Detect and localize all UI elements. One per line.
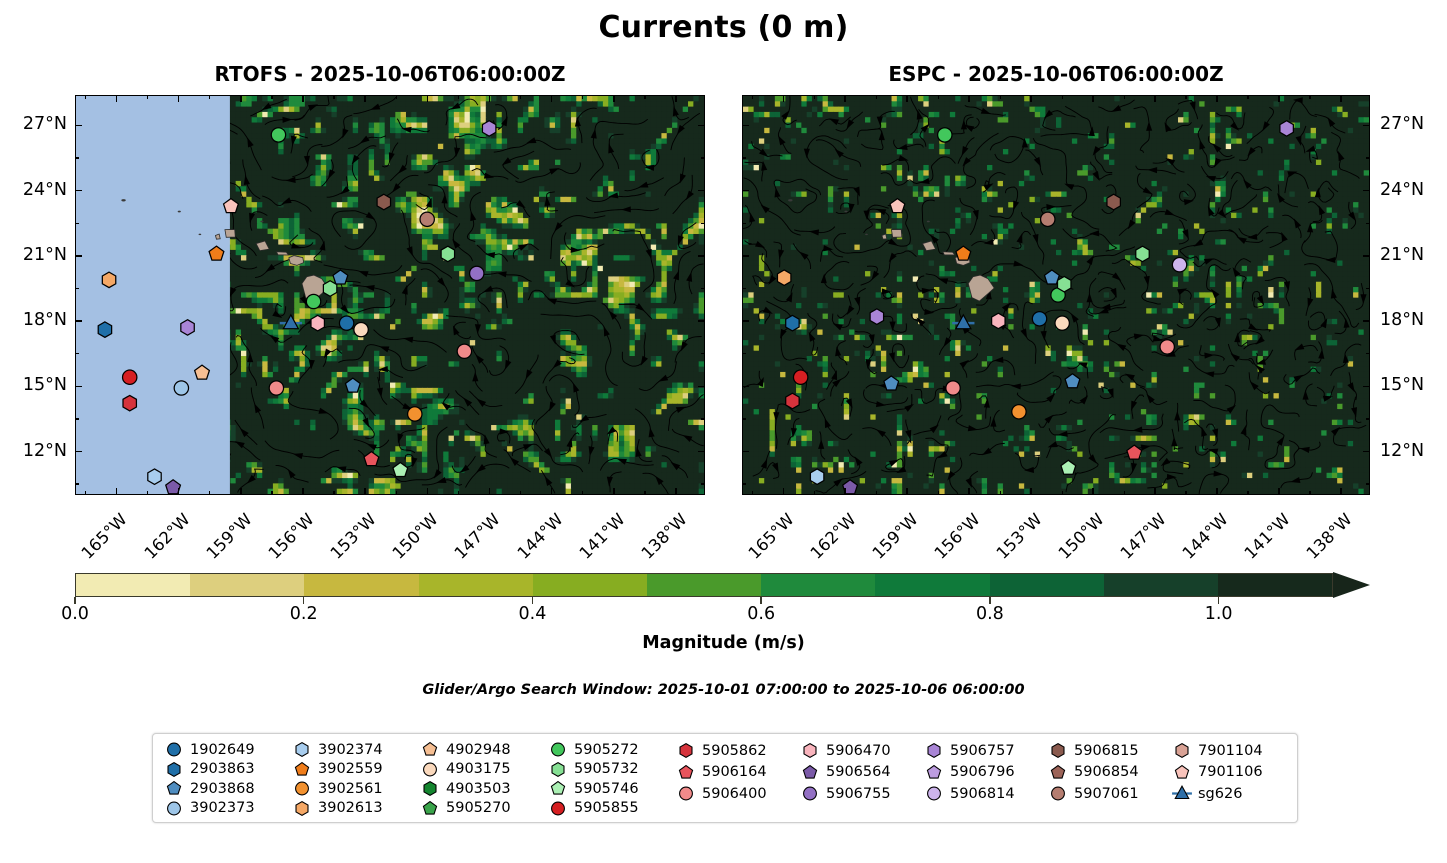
colorbar-band xyxy=(761,574,875,596)
lon-tick-major xyxy=(906,488,908,495)
legend-label: 5905862 xyxy=(699,743,767,759)
lon-tick-major xyxy=(675,488,677,495)
map-marker[interactable] xyxy=(148,469,161,484)
map-marker[interactable] xyxy=(181,320,194,335)
colorbar-bands xyxy=(75,573,1333,597)
lon-tick-major xyxy=(364,488,366,495)
lat-tick-major xyxy=(75,451,82,453)
legend-label: 5905855 xyxy=(571,800,639,816)
lon-tick-major xyxy=(783,488,785,495)
lon-tick-minor xyxy=(582,491,583,495)
lat-tick-minor xyxy=(701,418,705,419)
lon-tick-major xyxy=(968,95,970,102)
lat-label-left: 18°N xyxy=(0,310,67,330)
lon-tick-major xyxy=(1340,488,1342,495)
lat-tick-major xyxy=(1363,451,1370,453)
lon-tick-minor xyxy=(938,491,939,495)
lon-tick-major xyxy=(844,95,846,102)
lon-tick-minor xyxy=(271,95,272,99)
legend-column: 590586259061645906400 xyxy=(673,740,797,818)
lon-tick-minor xyxy=(458,491,459,495)
legend-marker-pentagon-icon xyxy=(417,740,443,759)
map-marker[interactable] xyxy=(786,393,799,408)
lat-tick-major xyxy=(75,125,82,127)
lon-tick-minor xyxy=(1247,491,1248,495)
legend-marker-hexagon-icon xyxy=(289,740,315,759)
lon-tick-minor xyxy=(458,95,459,99)
map-marker[interactable] xyxy=(354,322,368,336)
panel-title-espc: ESPC - 2025-10-06T06:00:00Z xyxy=(742,62,1370,86)
map-marker[interactable] xyxy=(470,266,484,280)
lon-tick-minor xyxy=(1309,95,1310,99)
map-marker[interactable] xyxy=(271,128,285,142)
map-marker[interactable] xyxy=(1041,212,1055,226)
lat-tick-major xyxy=(698,320,705,322)
colorbar-tick xyxy=(760,597,761,604)
lat-tick-major xyxy=(742,255,749,257)
lat-tick-major xyxy=(742,386,749,388)
lat-tick-major xyxy=(698,255,705,257)
legend-entry[interactable]: 4903175 xyxy=(417,760,545,780)
lon-tick-major xyxy=(1092,95,1094,102)
legend-label: 3902613 xyxy=(315,800,383,816)
legend-label: 4903503 xyxy=(443,781,511,797)
lat-tick-minor xyxy=(742,353,746,354)
map-marker[interactable] xyxy=(946,381,960,395)
legend-marker-hexagon-icon xyxy=(1169,741,1195,760)
lon-tick-major xyxy=(1154,95,1156,102)
map-marker[interactable] xyxy=(870,309,883,324)
lon-tick-minor xyxy=(814,491,815,495)
lon-tick-minor xyxy=(582,95,583,99)
legend-entry[interactable]: 5905862 xyxy=(673,740,797,762)
legend-marker-pentagon-icon xyxy=(417,799,443,818)
lat-label-left: 24°N xyxy=(0,180,67,200)
map-marker[interactable] xyxy=(1280,121,1293,136)
colorbar-band xyxy=(647,574,761,596)
legend-entry[interactable]: 5907061 xyxy=(1045,783,1169,805)
legend-marker-hexagon-icon xyxy=(161,760,187,779)
lon-tick-major xyxy=(240,488,242,495)
lon-tick-major xyxy=(844,488,846,495)
lon-tick-minor xyxy=(396,491,397,495)
colorbar xyxy=(75,573,1370,597)
lon-tick-minor xyxy=(1000,491,1001,495)
lon-tick-major xyxy=(116,95,118,102)
panel-title-rtofs: RTOFS - 2025-10-06T06:00:00Z xyxy=(75,62,705,86)
legend-marker-circle-icon xyxy=(289,779,315,798)
map-marker[interactable] xyxy=(457,344,471,358)
legend-column: 590675759067965906814 xyxy=(921,740,1045,818)
lat-label-left: 12°N xyxy=(0,441,67,461)
lon-tick-major xyxy=(178,95,180,102)
legend-label: 5906796 xyxy=(947,764,1015,780)
lon-tick-minor xyxy=(1124,95,1125,99)
legend-marker-circle-icon xyxy=(673,784,699,803)
legend-marker-hexagon-icon xyxy=(545,760,571,779)
map-marker[interactable] xyxy=(323,281,336,296)
legend-entry[interactable]: 5906564 xyxy=(797,762,921,784)
legend-marker-hexagon-icon xyxy=(417,779,443,798)
legend-label: 5905746 xyxy=(571,781,639,797)
lat-label-left: 27°N xyxy=(0,114,67,134)
legend-box: 1902649290386329038683902373390237439025… xyxy=(152,733,1298,823)
lat-tick-major xyxy=(1363,386,1370,388)
legend-entry[interactable]: 5905855 xyxy=(545,799,673,819)
legend-label: 7901106 xyxy=(1195,764,1263,780)
map-marker[interactable] xyxy=(793,370,807,384)
legend-marker-triangle-line-icon xyxy=(1169,784,1195,803)
map-marker[interactable] xyxy=(810,469,823,484)
legend-label: 5906470 xyxy=(823,743,891,759)
map-marker[interactable] xyxy=(786,315,799,330)
legend-label: 5906400 xyxy=(699,786,767,802)
legend-entry[interactable]: 5905732 xyxy=(545,760,673,780)
legend-label: 5906815 xyxy=(1071,743,1139,759)
colorbar-tick-label: 0.4 xyxy=(497,604,567,624)
map-marker[interactable] xyxy=(98,322,111,337)
lon-tick-major xyxy=(783,95,785,102)
legend-marker-circle-icon xyxy=(921,784,947,803)
colorbar-band xyxy=(990,574,1104,596)
lat-tick-minor xyxy=(75,483,79,484)
lat-tick-major xyxy=(742,451,749,453)
legend-entry[interactable]: 5906757 xyxy=(921,740,1045,762)
lon-tick-major xyxy=(1092,488,1094,495)
lon-tick-major xyxy=(489,488,491,495)
legend-marker-circle-icon xyxy=(417,760,443,779)
legend-label: 3902374 xyxy=(315,742,383,758)
map-marker[interactable] xyxy=(102,272,115,287)
legend-label: 5906757 xyxy=(947,743,1015,759)
legend-column: 1902649290386329038683902373 xyxy=(161,740,289,818)
legend-marker-hexagon-icon xyxy=(1045,741,1071,760)
lat-tick-minor xyxy=(701,288,705,289)
map-marker[interactable] xyxy=(482,121,495,136)
legend-label: 7901104 xyxy=(1195,743,1263,759)
legend-label: sg626 xyxy=(1195,786,1242,802)
lon-tick-minor xyxy=(209,491,210,495)
lon-tick-major xyxy=(427,95,429,102)
lon-tick-major xyxy=(613,488,615,495)
legend-marker-circle-icon xyxy=(1045,784,1071,803)
legend-entry[interactable]: 5905270 xyxy=(417,799,545,819)
legend-entry[interactable]: 3902373 xyxy=(161,799,289,819)
legend-entry[interactable]: 2903863 xyxy=(161,760,289,780)
lon-tick-minor xyxy=(147,95,148,99)
legend-marker-pentagon-icon xyxy=(1045,763,1071,782)
lon-tick-minor xyxy=(520,95,521,99)
map-marker[interactable] xyxy=(1032,312,1046,326)
lat-label-left: 15°N xyxy=(0,375,67,395)
lon-tick-minor xyxy=(85,491,86,495)
lat-tick-major xyxy=(75,386,82,388)
lon-tick-minor xyxy=(396,95,397,99)
lat-tick-major xyxy=(698,386,705,388)
legend-entry[interactable]: 5906470 xyxy=(797,740,921,762)
legend-marker-pentagon-icon xyxy=(161,779,187,798)
map-marker[interactable] xyxy=(1055,316,1069,330)
colorbar-tick-label: 0.6 xyxy=(726,604,796,624)
colorbar-tick-label: 0.8 xyxy=(955,604,1025,624)
legend-entry[interactable]: 5906814 xyxy=(921,783,1045,805)
lat-tick-minor xyxy=(701,157,705,158)
map-marker[interactable] xyxy=(420,212,434,226)
no-data-region xyxy=(76,96,230,494)
search-window-text: Glider/Argo Search Window: 2025-10-01 07… xyxy=(0,682,1447,698)
legend-label: 5906564 xyxy=(823,764,891,780)
legend-entry[interactable]: 5906815 xyxy=(1045,740,1169,762)
legend-marker-pentagon-icon xyxy=(921,763,947,782)
lat-tick-minor xyxy=(742,483,746,484)
legend-entry[interactable]: 5905272 xyxy=(545,740,673,760)
legend-column: 3902374390255939025613902613 xyxy=(289,740,417,818)
lon-tick-minor xyxy=(876,491,877,495)
lat-label-right: 18°N xyxy=(1380,310,1447,330)
map-marker[interactable] xyxy=(377,194,390,209)
lat-tick-minor xyxy=(701,483,705,484)
lon-tick-major xyxy=(427,488,429,495)
lon-tick-minor xyxy=(333,95,334,99)
legend-entry[interactable]: 5905746 xyxy=(545,779,673,799)
legend-entry[interactable]: 3902613 xyxy=(289,799,417,819)
lon-tick-minor xyxy=(333,491,334,495)
legend-entry[interactable]: 2903868 xyxy=(161,779,289,799)
legend-entry[interactable]: 3902561 xyxy=(289,779,417,799)
map-marker[interactable] xyxy=(441,246,454,261)
legend-label: 2903868 xyxy=(187,781,255,797)
legend-entry[interactable]: 7901106 xyxy=(1169,762,1287,784)
legend-label: 3902373 xyxy=(187,800,255,816)
legend-label: 5906164 xyxy=(699,764,767,780)
lon-tick-minor xyxy=(147,491,148,495)
espc-current-field xyxy=(743,96,1369,494)
lon-tick-major xyxy=(906,95,908,102)
colorbar-band xyxy=(533,574,647,596)
lon-tick-major xyxy=(178,488,180,495)
legend-entry[interactable]: 3902559 xyxy=(289,760,417,780)
lon-tick-minor xyxy=(1062,491,1063,495)
lat-tick-major xyxy=(1363,320,1370,322)
lon-tick-major xyxy=(1030,95,1032,102)
legend-label: 5907061 xyxy=(1071,786,1139,802)
lon-tick-major xyxy=(302,488,304,495)
lon-tick-minor xyxy=(1124,491,1125,495)
lon-tick-minor xyxy=(644,95,645,99)
lon-tick-minor xyxy=(1000,95,1001,99)
legend-column: 79011047901106sg626 xyxy=(1169,740,1287,818)
map-marker[interactable] xyxy=(174,381,188,395)
lat-tick-major xyxy=(742,125,749,127)
colorbar-tick-label: 0.2 xyxy=(269,604,339,624)
lat-tick-major xyxy=(1363,125,1370,127)
lon-tick-major xyxy=(116,488,118,495)
map-marker[interactable] xyxy=(408,407,422,421)
legend-marker-pentagon-icon xyxy=(797,763,823,782)
lat-label-left: 21°N xyxy=(0,245,67,265)
colorbar-band xyxy=(76,574,190,596)
legend-marker-circle-icon xyxy=(161,740,187,759)
lat-tick-major xyxy=(742,190,749,192)
legend-entry[interactable]: 5906755 xyxy=(797,783,921,805)
lon-tick-major xyxy=(1278,95,1280,102)
lon-tick-major xyxy=(489,95,491,102)
lat-tick-major xyxy=(698,451,705,453)
lon-tick-minor xyxy=(1309,491,1310,495)
lon-tick-major xyxy=(1154,488,1156,495)
map-marker[interactable] xyxy=(992,313,1005,328)
colorbar-tick xyxy=(989,597,990,604)
legend-label: 2903863 xyxy=(187,761,255,777)
lat-tick-major xyxy=(75,190,82,192)
legend-marker-hexagon-icon xyxy=(921,741,947,760)
map-marker[interactable] xyxy=(1172,258,1186,272)
legend-label: 1902649 xyxy=(187,742,255,758)
lon-tick-minor xyxy=(520,491,521,495)
lon-tick-minor xyxy=(752,491,753,495)
legend-column: 5905272590573259057465905855 xyxy=(545,740,673,818)
lat-tick-minor xyxy=(1366,418,1370,419)
legend-marker-hexagon-icon xyxy=(797,741,823,760)
legend-entry[interactable]: 1902649 xyxy=(161,740,289,760)
legend-column: 590647059065645906755 xyxy=(797,740,921,818)
lat-label-right: 27°N xyxy=(1380,114,1447,134)
lon-tick-minor xyxy=(938,95,939,99)
legend-marker-circle-icon xyxy=(545,799,571,818)
colorbar-tick xyxy=(74,597,75,604)
lon-tick-major xyxy=(551,488,553,495)
legend-entry[interactable]: 4903503 xyxy=(417,779,545,799)
lat-tick-minor xyxy=(75,223,79,224)
map-marker[interactable] xyxy=(339,316,353,330)
lon-tick-minor xyxy=(814,95,815,99)
colorbar-band xyxy=(1104,574,1218,596)
colorbar-band xyxy=(875,574,989,596)
colorbar-tick xyxy=(1218,597,1219,604)
lon-tick-minor xyxy=(1185,95,1186,99)
figure-title: Currents (0 m) xyxy=(0,10,1447,45)
lat-label-right: 15°N xyxy=(1380,375,1447,395)
lon-tick-major xyxy=(1030,488,1032,495)
lon-tick-minor xyxy=(752,95,753,99)
lat-tick-major xyxy=(75,255,82,257)
colorbar-tick-label: 1.0 xyxy=(1184,604,1254,624)
legend-column: 590681559068545907061 xyxy=(1045,740,1169,818)
lat-tick-major xyxy=(698,190,705,192)
legend-label: 5906755 xyxy=(823,786,891,802)
legend-entry[interactable]: 5906164 xyxy=(673,762,797,784)
map-marker[interactable] xyxy=(123,395,136,410)
map-marker[interactable] xyxy=(938,128,952,142)
legend-label: 5906814 xyxy=(947,786,1015,802)
lon-tick-minor xyxy=(1062,95,1063,99)
lat-tick-minor xyxy=(742,157,746,158)
lon-tick-major xyxy=(675,95,677,102)
colorbar-band xyxy=(304,574,418,596)
lon-tick-major xyxy=(1216,95,1218,102)
lat-tick-minor xyxy=(1366,223,1370,224)
legend-label: 4903175 xyxy=(443,761,511,777)
lon-tick-major xyxy=(1216,488,1218,495)
map-marker[interactable] xyxy=(1012,405,1026,419)
colorbar-label: Magnitude (m/s) xyxy=(0,633,1447,653)
lat-tick-minor xyxy=(75,157,79,158)
legend-marker-circle-icon xyxy=(545,740,571,759)
lon-tick-major xyxy=(1340,95,1342,102)
lat-tick-major xyxy=(1363,190,1370,192)
colorbar-band xyxy=(419,574,533,596)
legend-entry[interactable]: 7901104 xyxy=(1169,740,1287,762)
lon-tick-minor xyxy=(209,95,210,99)
lat-label-right: 12°N xyxy=(1380,441,1447,461)
legend-marker-pentagon-icon xyxy=(673,763,699,782)
legend-entry[interactable]: 5906400 xyxy=(673,783,797,805)
map-marker[interactable] xyxy=(777,270,790,285)
lon-tick-major xyxy=(551,95,553,102)
legend-label: 5905732 xyxy=(571,761,639,777)
colorbar-band xyxy=(190,574,304,596)
legend-marker-pentagon-icon xyxy=(289,760,315,779)
lat-tick-major xyxy=(1363,255,1370,257)
lat-tick-minor xyxy=(1366,288,1370,289)
legend-label: 3902561 xyxy=(315,781,383,797)
lon-tick-minor xyxy=(85,95,86,99)
colorbar-band xyxy=(1218,574,1332,596)
lon-tick-minor xyxy=(1247,95,1248,99)
legend-marker-circle-icon xyxy=(797,784,823,803)
lon-tick-major xyxy=(968,488,970,495)
lat-tick-minor xyxy=(701,353,705,354)
lat-tick-minor xyxy=(75,353,79,354)
map-marker[interactable] xyxy=(311,315,324,330)
lon-tick-minor xyxy=(1185,491,1186,495)
legend-entry[interactable]: 4902948 xyxy=(417,740,545,760)
legend-marker-pentagon-icon xyxy=(545,779,571,798)
legend-label: 5906854 xyxy=(1071,764,1139,780)
legend-label: 3902559 xyxy=(315,761,383,777)
lon-tick-major xyxy=(613,95,615,102)
legend-entry[interactable]: sg626 xyxy=(1169,783,1287,805)
map-marker[interactable] xyxy=(269,381,283,395)
lat-label-right: 24°N xyxy=(1380,180,1447,200)
lon-tick-minor xyxy=(271,491,272,495)
lon-tick-major xyxy=(302,95,304,102)
legend-entry[interactable]: 5906796 xyxy=(921,762,1045,784)
map-marker[interactable] xyxy=(123,370,137,384)
lat-tick-minor xyxy=(701,223,705,224)
legend-entry[interactable]: 5906854 xyxy=(1045,762,1169,784)
lat-tick-minor xyxy=(1366,353,1370,354)
lat-tick-minor xyxy=(1366,157,1370,158)
lat-tick-minor xyxy=(1366,483,1370,484)
map-marker[interactable] xyxy=(1136,246,1149,261)
legend-column: 4902948490317549035035905270 xyxy=(417,740,545,818)
map-marker[interactable] xyxy=(1160,340,1174,354)
lat-tick-minor xyxy=(75,418,79,419)
map-marker[interactable] xyxy=(1107,194,1120,209)
map-panel-rtofs[interactable] xyxy=(75,95,705,495)
legend-entry[interactable]: 3902374 xyxy=(289,740,417,760)
rtofs-current-field xyxy=(76,96,704,494)
map-marker[interactable] xyxy=(1058,276,1071,291)
lat-tick-major xyxy=(75,320,82,322)
lon-tick-major xyxy=(1278,488,1280,495)
lon-tick-major xyxy=(364,95,366,102)
lat-tick-major xyxy=(742,320,749,322)
map-panel-espc[interactable] xyxy=(742,95,1370,495)
lat-tick-minor xyxy=(742,288,746,289)
map-marker[interactable] xyxy=(306,294,320,308)
